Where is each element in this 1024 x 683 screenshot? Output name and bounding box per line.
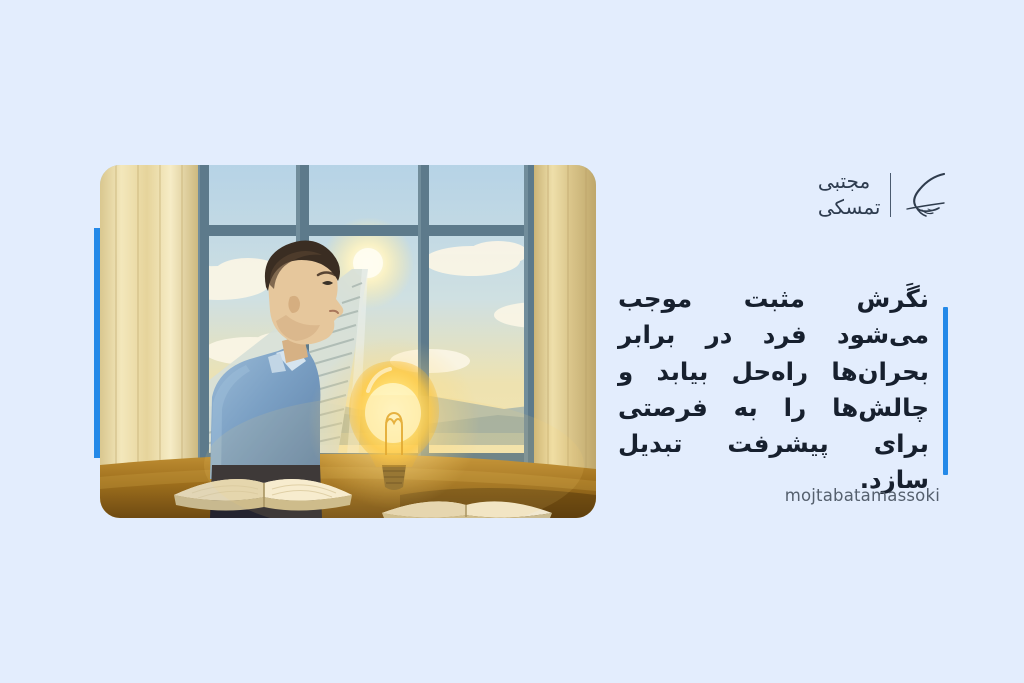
brand-divider: [890, 173, 892, 217]
brand-name-line-1: مجتبی: [818, 169, 870, 195]
brand-name: مجتبی تمسکی: [818, 169, 881, 220]
illustration-artwork: [100, 165, 596, 518]
media-block: [94, 165, 596, 518]
quote-block: نگَرش مثبت موجب می‌شود فرد در برابر بحرا…: [618, 281, 948, 499]
brand-name-line-2: تمسکی: [818, 195, 881, 221]
brand-logo: مجتبی تمسکی: [722, 160, 952, 230]
calligraphy-signature-icon: [900, 169, 952, 221]
username-handle: mojtabatamassoki: [640, 486, 940, 505]
accent-bar-right: [943, 307, 948, 475]
poster-root: مجتبی تمسکی نگَرش مثبت موجب می‌شود فرد د…: [0, 0, 1024, 683]
illustration-card: [100, 165, 596, 518]
quote-text: نگَرش مثبت موجب می‌شود فرد در برابر بحرا…: [618, 281, 929, 499]
